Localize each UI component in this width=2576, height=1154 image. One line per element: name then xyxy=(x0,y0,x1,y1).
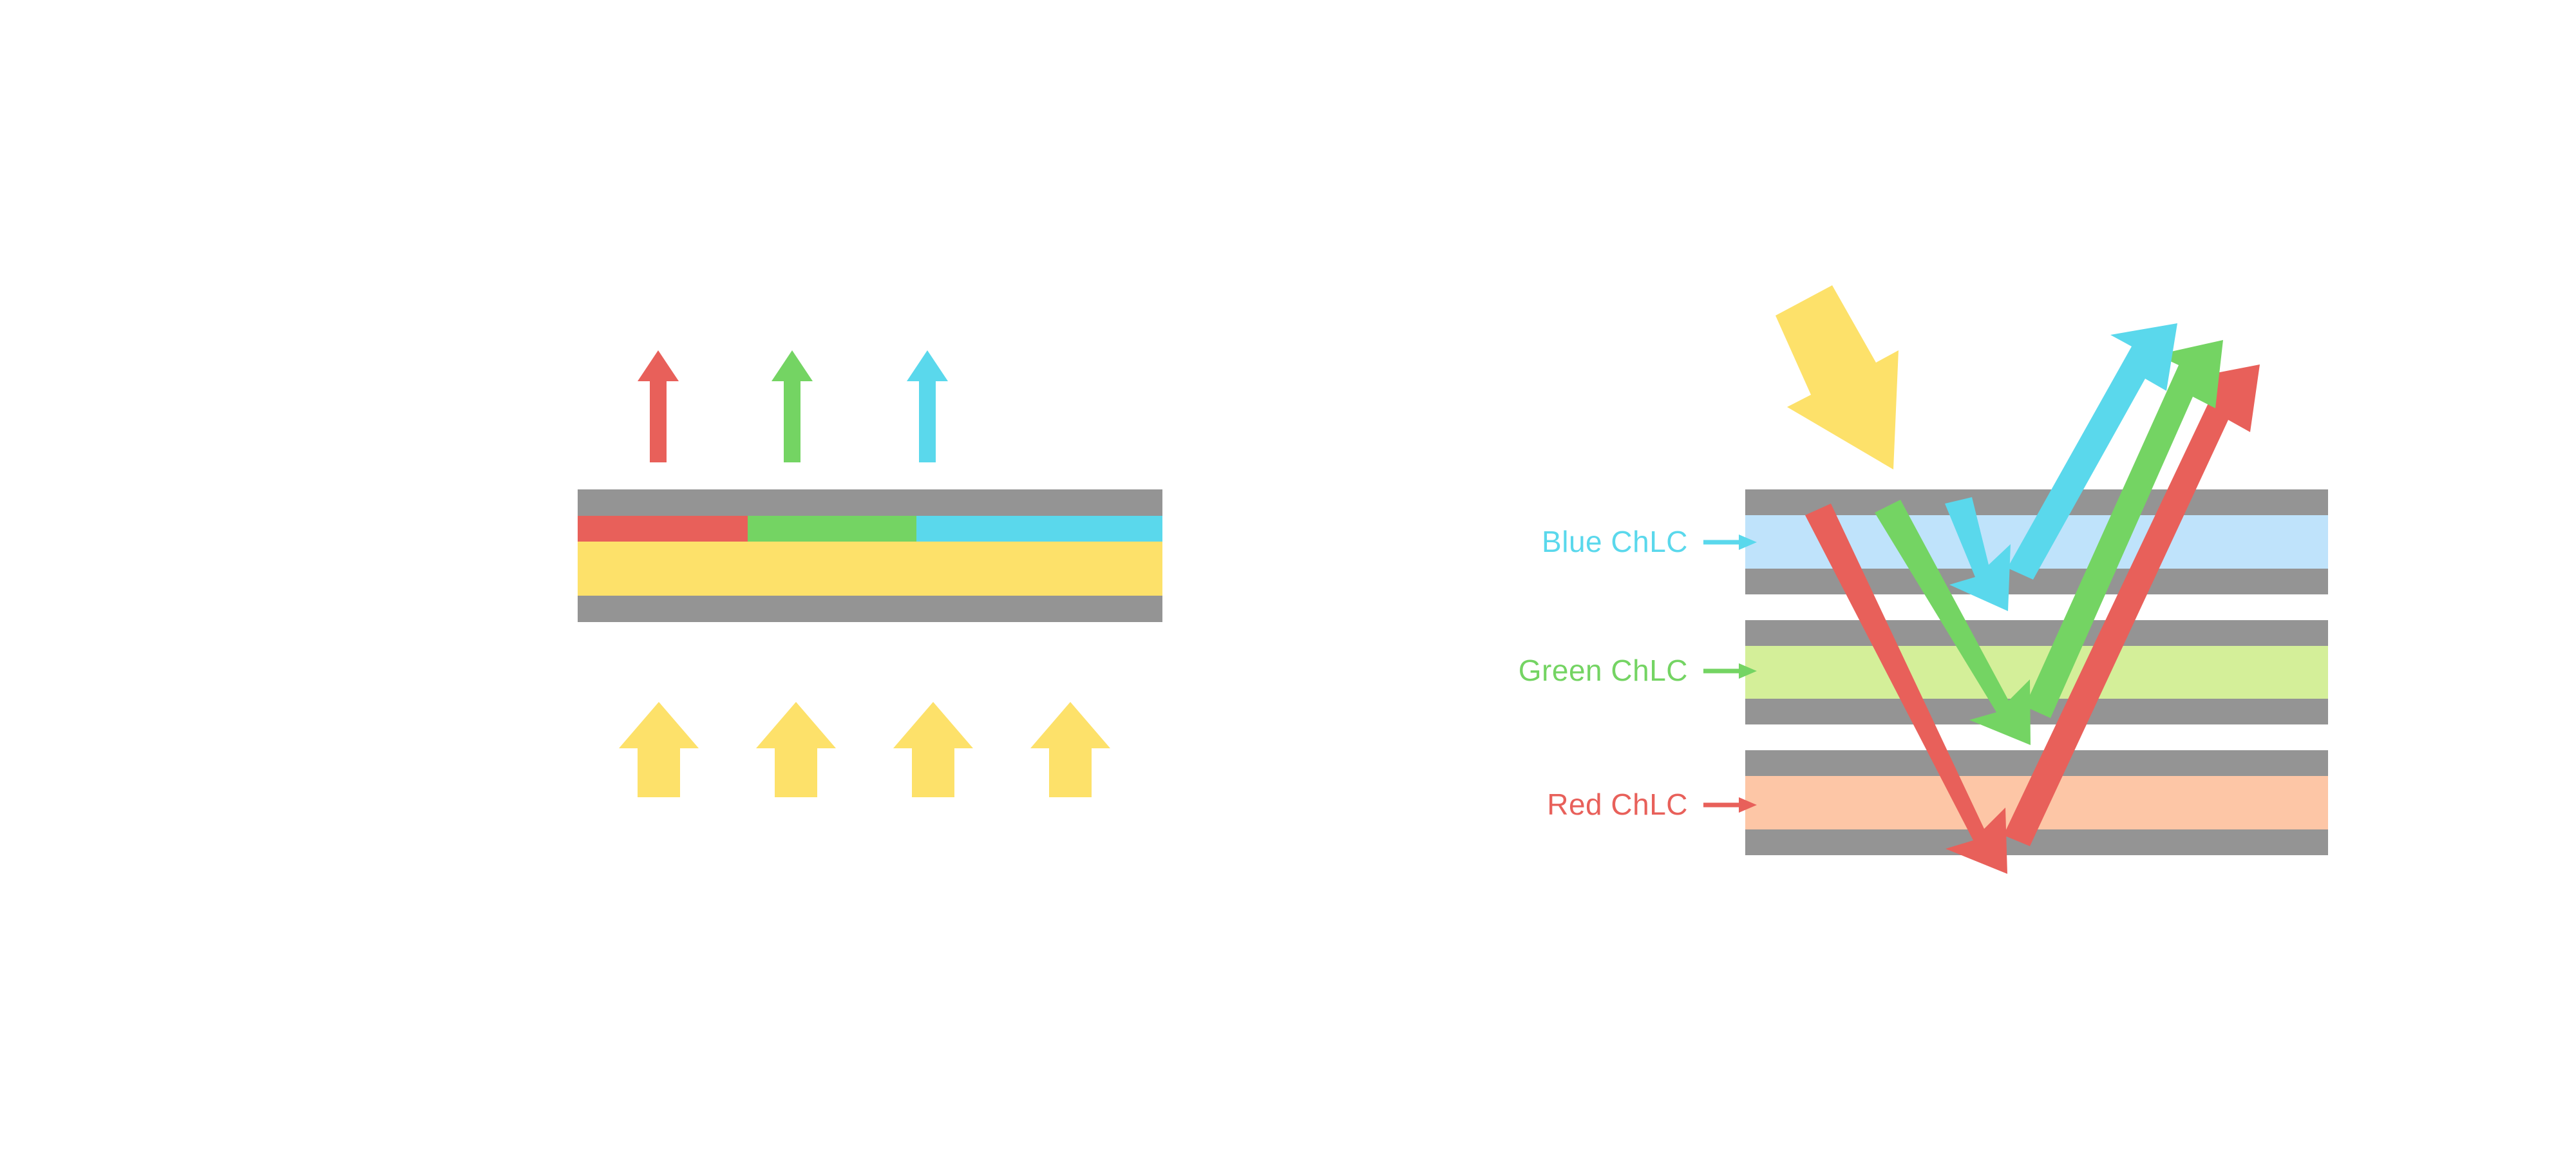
left-green-segment xyxy=(748,516,916,542)
left-cyan-segment xyxy=(916,516,1162,542)
red-bottom-electrode xyxy=(1745,829,2328,855)
left-stack xyxy=(578,489,1162,622)
diagram-canvas: Blue ChLC Green ChLC Red ChLC xyxy=(0,0,2576,1154)
figure-root: Blue ChLC Green ChLC Red ChLC xyxy=(0,0,2576,1154)
left-bottom-electrode xyxy=(578,596,1162,622)
blue-chlc-label: Blue ChLC xyxy=(1542,525,1688,558)
left-top-electrode xyxy=(578,489,1162,516)
green-chlc-label: Green ChLC xyxy=(1519,654,1688,687)
green-top-electrode xyxy=(1745,620,2328,646)
red-chlc-label: Red ChLC xyxy=(1547,788,1688,821)
left-red-segment xyxy=(578,516,748,542)
left-backlight-layer xyxy=(578,542,1162,596)
